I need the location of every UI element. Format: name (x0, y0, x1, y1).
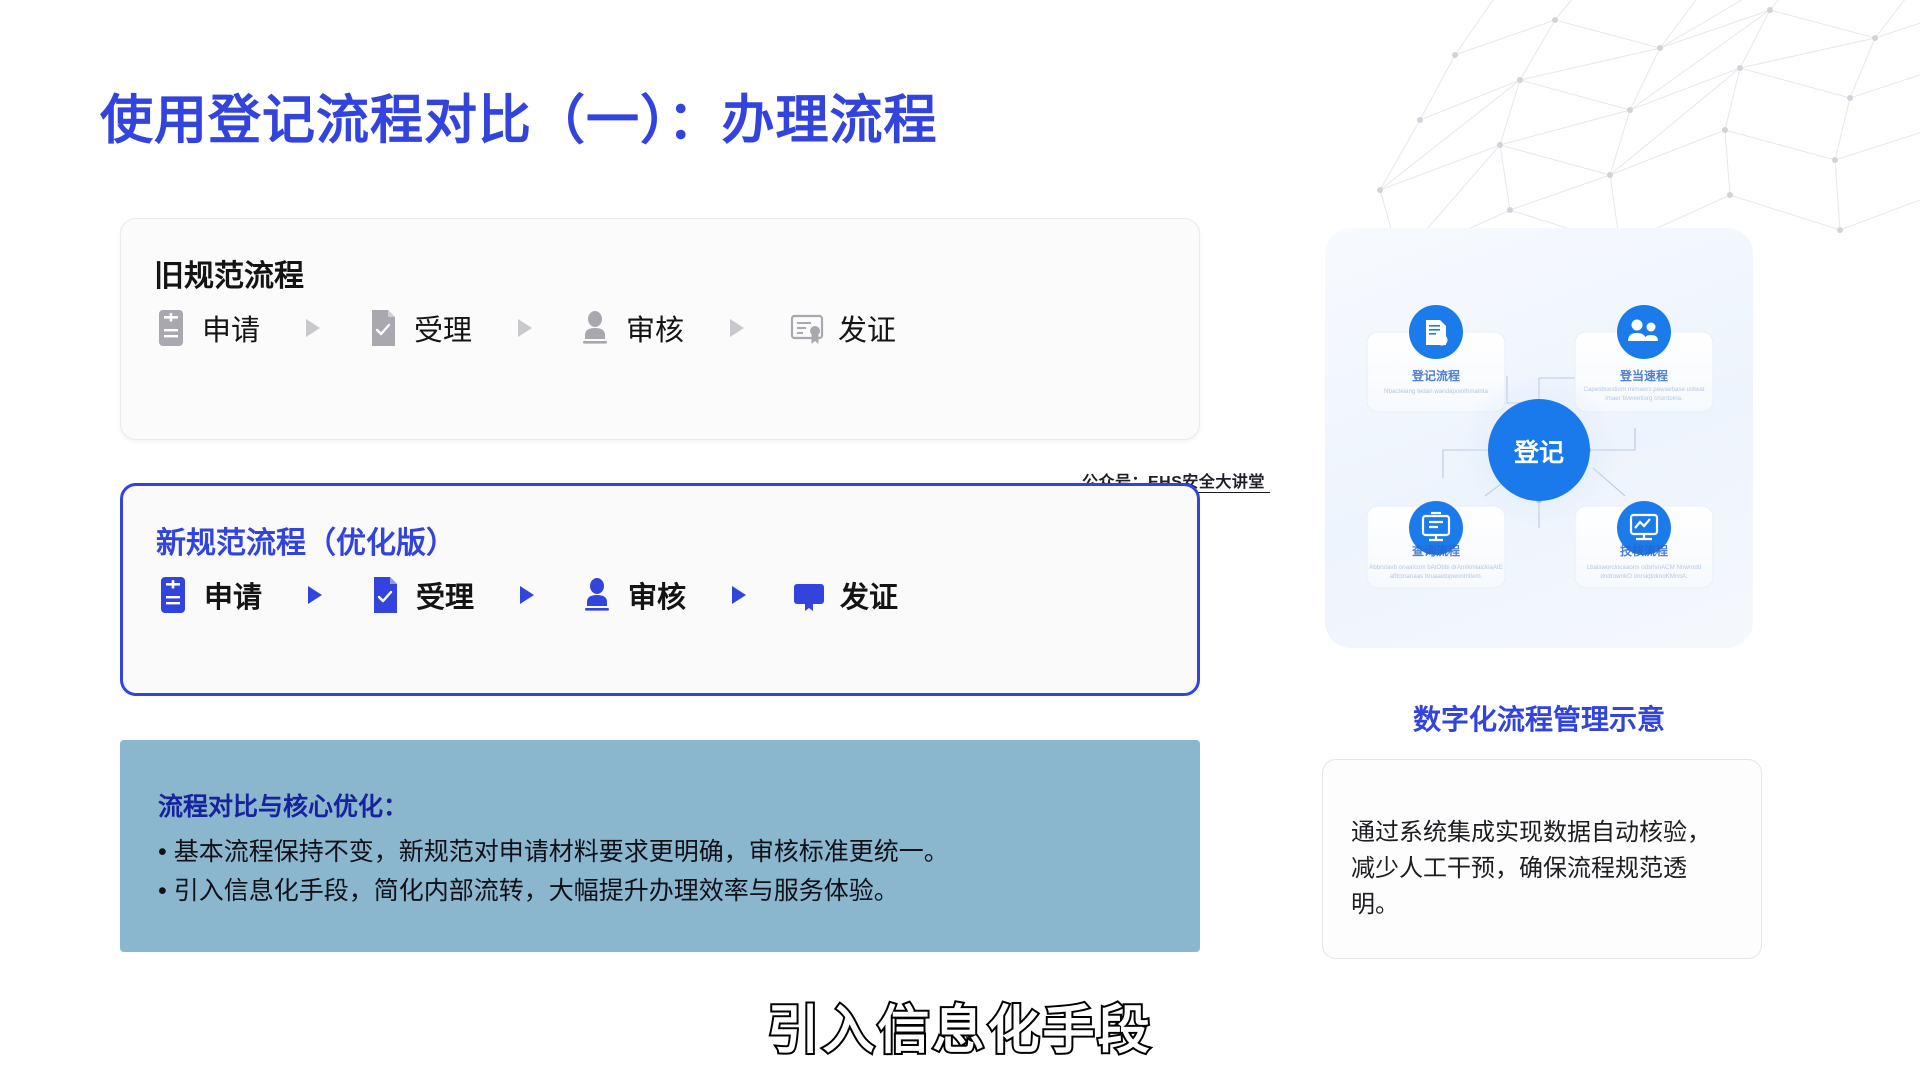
svg-text:dndrownkO onrsiqtoknoKMnoA.: dndrownkO onrsiqtoknoKMnoA. (1600, 573, 1688, 580)
new-step-label-2: 受理 (416, 574, 474, 616)
summary-bullet-2: • 引入信息化手段，简化内部流转，大幅提升办理效率与服务体验。 (158, 872, 1162, 911)
stamp-seal-icon (578, 309, 612, 347)
page-title: 使用登记流程对比（一）：办理流程 (100, 78, 938, 154)
certificate-icon (790, 309, 824, 347)
bottom-caption: 引入信息化手段 (0, 988, 1920, 1063)
triangle-right-icon (306, 319, 320, 337)
right-panel-caption: 数字化流程管理示意 (1325, 698, 1753, 738)
old-step-label-1: 申请 (202, 307, 260, 349)
new-step-label-1: 申请 (204, 574, 262, 616)
right-panel-note-box: 通过系统集成实现数据自动核验，减少人工干预，确保流程规范透明。 (1322, 759, 1762, 959)
calculator-form-icon (154, 309, 188, 347)
document-check-icon (368, 576, 402, 614)
svg-text:Capesbsestiont mimaers pewaeba: Capesbsestiont mimaers pewaebase ustwat (1583, 386, 1704, 393)
summary-bullet-1: • 基本流程保持不变，新规范对申请材料要求更明确，审核标准更统一。 (158, 833, 1162, 872)
triangle-right-icon (520, 586, 534, 604)
diagram-node-label-4: 技核流程 (1620, 543, 1668, 558)
summary-title: 流程对比与核心优化： (158, 787, 1162, 823)
old-step-3: 审核 (578, 307, 684, 349)
diagram-node-label-1: 登记流程 (1411, 368, 1460, 383)
new-process-card: 新规范流程（优化版） 申请 受理 (120, 483, 1200, 696)
old-process-card: 旧规范流程 申请 受理 (120, 218, 1200, 440)
new-step-1: 申请 (156, 574, 262, 616)
diagram-node-label-3: 查询流程 (1411, 543, 1460, 558)
svg-text:Nbacteiang tedan wandapointhma: Nbacteiang tedan wandapointhmainta (1384, 388, 1488, 395)
svg-text:Abbrstavb onaaicom bAtObbi drA: Abbrstavb onaaicom bAtObbi drAmikmiaicki… (1369, 564, 1503, 571)
calculator-form-icon (156, 576, 190, 614)
old-step-label-4: 发证 (838, 307, 896, 349)
new-process-steps: 申请 受理 审核 (156, 574, 898, 616)
old-process-steps: 申请 受理 审核 (154, 307, 896, 349)
old-process-heading: 旧规范流程 (154, 251, 304, 295)
triangle-right-icon (732, 586, 746, 604)
triangle-right-icon (730, 319, 744, 337)
svg-text:imaer bvweetiorg cnontoina.: imaer bvweetiorg cnontoina. (1605, 395, 1683, 402)
diagram-center-label: 登记 (1513, 438, 1564, 467)
new-process-heading: 新规范流程（优化版） (156, 518, 456, 562)
right-panel-note-text: 通过系统集成实现数据自动核验，减少人工干预，确保流程规范透明。 (1351, 815, 1733, 923)
old-step-2: 受理 (366, 307, 472, 349)
diagram-node-label-2: 登当速程 (1619, 368, 1668, 383)
triangle-right-icon (518, 319, 532, 337)
old-step-4: 发证 (790, 307, 896, 349)
old-step-label-2: 受理 (414, 307, 472, 349)
diagram-svg: 登记 登记流程 登当速程 查询流程 技核流程 Nbacteiang tedan … (1325, 228, 1753, 648)
document-check-icon (366, 309, 400, 347)
new-step-label-3: 审核 (628, 574, 686, 616)
new-step-2: 受理 (368, 574, 474, 616)
old-step-label-3: 审核 (626, 307, 684, 349)
certificate-icon (792, 576, 826, 614)
summary-box: 流程对比与核心优化： • 基本流程保持不变，新规范对申请材料要求更明确，审核标准… (120, 740, 1200, 952)
stamp-seal-icon (580, 576, 614, 614)
new-step-4: 发证 (792, 574, 898, 616)
new-step-3: 审核 (580, 574, 686, 616)
triangle-right-icon (308, 586, 322, 604)
svg-text:Lbaisworclocaaons odsrisnACM N: Lbaisworclocaaons odsrisnACM Nnwrodd (1587, 564, 1702, 571)
slide-root: 使用登记流程对比（一）：办理流程 旧规范流程 申请 (0, 0, 1920, 1080)
digital-process-diagram: 登记 登记流程 登当速程 查询流程 技核流程 Nbacteiang tedan … (1325, 228, 1753, 648)
old-step-1: 申请 (154, 307, 260, 349)
svg-text:afttctnanaas bruaaidopwontnite: afttctnanaas bruaaidopwontnitem. (1390, 573, 1483, 580)
new-step-label-4: 发证 (840, 574, 898, 616)
